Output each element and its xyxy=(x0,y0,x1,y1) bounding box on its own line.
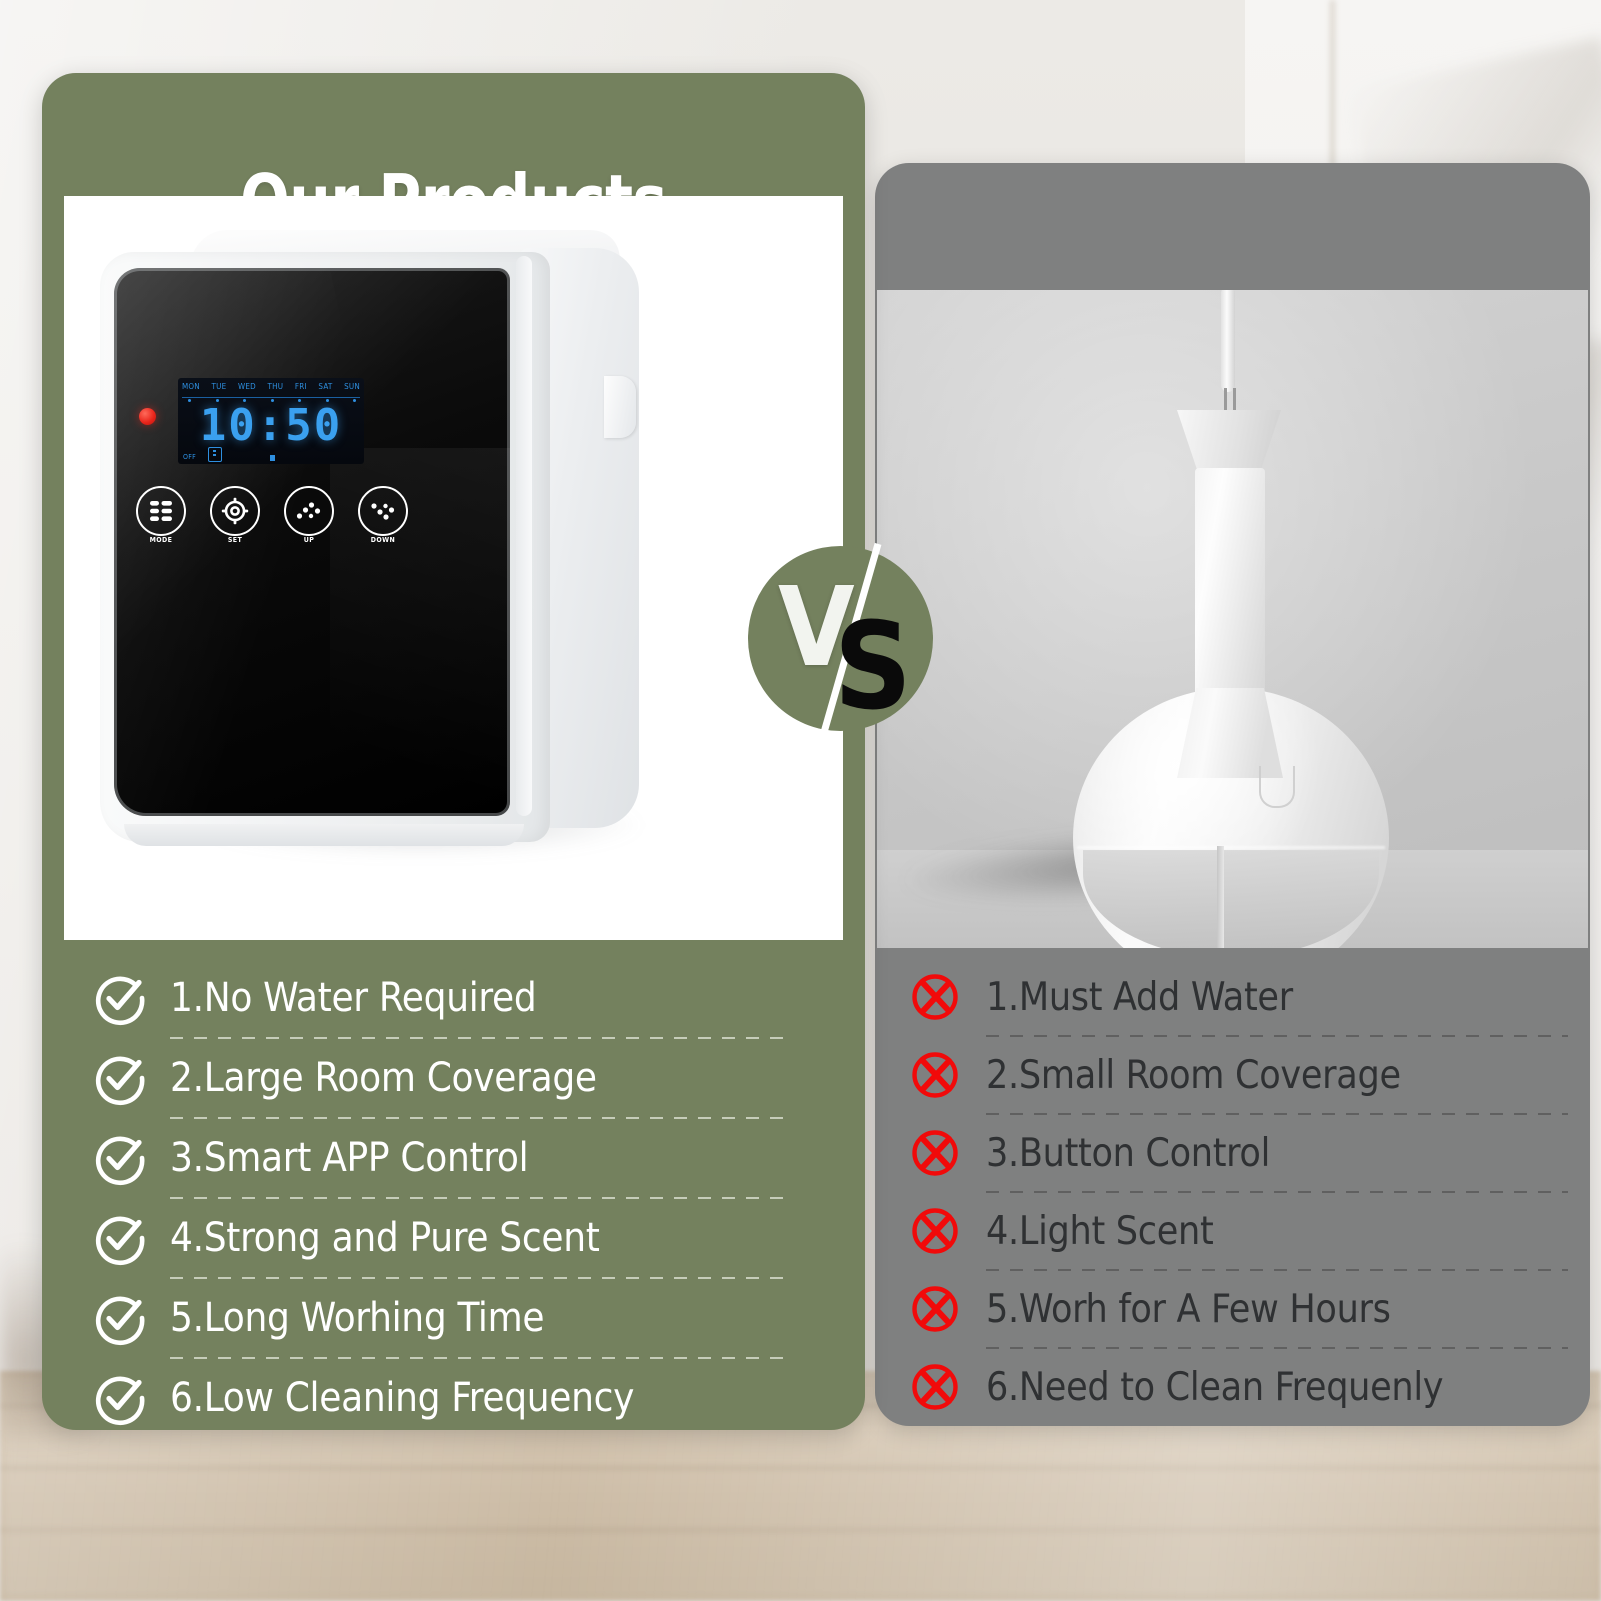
check-circle-icon xyxy=(92,1130,170,1186)
list-separator xyxy=(986,1113,1568,1115)
feature-text: 3.Button Control xyxy=(986,1131,1270,1176)
lcd-day-tue: TUE xyxy=(212,382,227,391)
list-separator xyxy=(986,1191,1568,1193)
check-circle-icon xyxy=(92,1210,170,1266)
humidifier-water-line xyxy=(1077,846,1385,849)
lcd-day-sat: SAT xyxy=(318,382,332,391)
list-item: 2.Small Room Coverage xyxy=(908,1046,1568,1104)
mode-button-label: MODE xyxy=(126,536,196,544)
list-separator xyxy=(170,1037,792,1039)
feature-text: 2.Large Room Coverage xyxy=(170,1055,597,1101)
list-item: 4.Light Scent xyxy=(908,1202,1568,1260)
device-side-button[interactable] xyxy=(604,376,636,438)
list-item: 4.Strong and Pure Scent xyxy=(92,1208,792,1268)
list-separator xyxy=(170,1357,792,1359)
list-item: 6.Need to Clean Frequenly xyxy=(908,1358,1568,1416)
vs-badge: V S xyxy=(748,546,933,731)
lcd-day-fri: FRI xyxy=(295,382,307,391)
feature-text: 3.Smart APP Control xyxy=(170,1135,528,1181)
lcd-day-wed: WED xyxy=(238,382,256,391)
list-separator xyxy=(986,1035,1568,1037)
humidifier-power-button[interactable] xyxy=(1259,766,1295,808)
list-item: 1.Must Add Water xyxy=(908,968,1568,1026)
list-item: 3.Smart APP Control xyxy=(92,1128,792,1188)
cross-circle-icon xyxy=(908,1048,986,1102)
list-item: 5.Worh for A Few Hours xyxy=(908,1280,1568,1338)
list-separator xyxy=(170,1117,792,1119)
cross-circle-icon xyxy=(908,1360,986,1414)
lcd-day-thu: THU xyxy=(268,382,284,391)
other-products-feature-list: 1.Must Add Water 2.Small Room Coverage 3… xyxy=(908,968,1568,1416)
device-front-edge xyxy=(516,256,532,816)
power-led-indicator xyxy=(139,408,156,425)
lcd-divider xyxy=(182,397,360,398)
cross-circle-icon xyxy=(908,1282,986,1336)
check-circle-icon xyxy=(92,970,170,1026)
lcd-display: MON TUE WED THU FRI SAT SUN 10:50 OFF xyxy=(178,378,364,464)
feature-text: 4.Light Scent xyxy=(986,1209,1213,1254)
down-dots-icon xyxy=(369,497,397,525)
feature-text: 5.Worh for A Few Hours xyxy=(986,1287,1391,1332)
humidifier-cord xyxy=(1221,290,1235,392)
device-glass-panel: MON TUE WED THU FRI SAT SUN 10:50 OFF xyxy=(114,268,510,816)
list-item: 2.Large Room Coverage xyxy=(92,1048,792,1108)
list-item: 3.Button Control xyxy=(908,1124,1568,1182)
lcd-day-mon: MON xyxy=(182,382,200,391)
list-icon xyxy=(147,497,175,525)
up-dots-icon xyxy=(295,497,323,525)
down-button-label: DOWN xyxy=(348,536,418,544)
other-product-photo xyxy=(877,290,1588,948)
feature-text: 6.Low Cleaning Frequency xyxy=(170,1375,634,1421)
mode-button[interactable]: MODE xyxy=(136,486,186,536)
cross-circle-icon xyxy=(908,1204,986,1258)
touch-button-row: MODE xyxy=(136,486,476,536)
list-separator xyxy=(986,1347,1568,1349)
up-button[interactable]: UP xyxy=(284,486,334,536)
lcd-weekday-row: MON TUE WED THU FRI SAT SUN xyxy=(182,382,360,391)
flask-humidifier-image xyxy=(877,290,1588,948)
list-item: 6.Low Cleaning Frequency xyxy=(92,1368,792,1428)
check-circle-icon xyxy=(92,1290,170,1346)
our-product-photo: MON TUE WED THU FRI SAT SUN 10:50 OFF xyxy=(64,196,843,940)
check-circle-icon xyxy=(92,1370,170,1426)
feature-text: 2.Small Room Coverage xyxy=(986,1053,1401,1098)
humidifier-neck xyxy=(1195,468,1265,718)
list-item: 1.No Water Required xyxy=(92,968,792,1028)
gear-icon xyxy=(221,497,249,525)
set-button-label: SET xyxy=(200,536,270,544)
list-separator xyxy=(170,1277,792,1279)
humidifier-water xyxy=(1083,850,1379,948)
list-separator xyxy=(170,1197,792,1199)
up-button-label: UP xyxy=(274,536,344,544)
feature-text: 6.Need to Clean Frequenly xyxy=(986,1365,1443,1410)
feature-text: 1.Must Add Water xyxy=(986,975,1293,1020)
diffuser-device-image: MON TUE WED THU FRI SAT SUN 10:50 OFF xyxy=(64,196,843,940)
check-circle-icon xyxy=(92,1050,170,1106)
set-button[interactable]: SET xyxy=(210,486,260,536)
cross-circle-icon xyxy=(908,970,986,1024)
our-products-feature-list: 1.No Water Required 2.Large Room Coverag… xyxy=(92,968,792,1428)
lcd-day-sun: SUN xyxy=(344,382,360,391)
feature-text: 1.No Water Required xyxy=(170,975,536,1021)
lcd-time-value: 10:50 xyxy=(178,400,364,451)
vs-letter-s: S xyxy=(834,608,912,728)
lcd-bottom-marker xyxy=(270,455,275,461)
humidifier-intake-tube xyxy=(1217,846,1224,948)
list-separator xyxy=(986,1269,1568,1271)
lcd-signal-icon xyxy=(208,447,222,462)
cross-circle-icon xyxy=(908,1126,986,1180)
feature-text: 4.Strong and Pure Scent xyxy=(170,1215,600,1261)
feature-text: 5.Long Worhing Time xyxy=(170,1295,544,1341)
list-item: 5.Long Worhing Time xyxy=(92,1288,792,1348)
lcd-off-label: OFF xyxy=(183,453,196,461)
device-base xyxy=(124,824,524,846)
down-button[interactable]: DOWN xyxy=(358,486,408,536)
